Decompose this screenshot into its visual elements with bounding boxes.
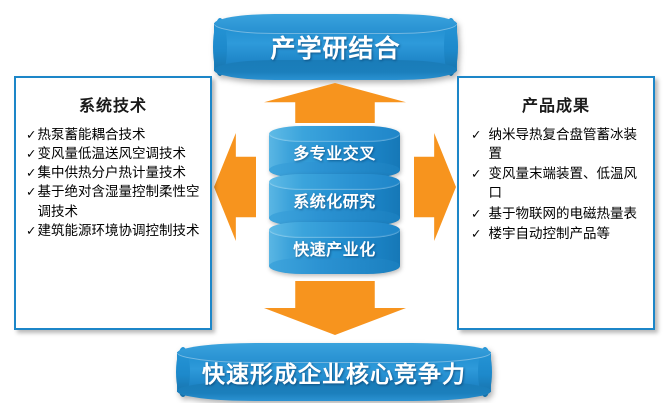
list-item: ✓ 纳米导热复合盘管蓄冰装置: [471, 126, 647, 164]
check-icon: ✓: [26, 164, 36, 183]
top-banner-label: 产学研结合: [214, 14, 457, 80]
list-item: ✓ 基于物联网的电磁热量表: [471, 205, 647, 224]
list-item-label: 基于绝对含湿量控制柔性空调技术: [37, 183, 202, 221]
list-item: ✓ 变风量低温送风空调技术: [26, 145, 202, 164]
list-item-label: 楼宇自动控制产品等: [488, 225, 647, 244]
check-icon: ✓: [26, 145, 36, 164]
stack-2-label: 系统化研究: [269, 174, 400, 226]
list-item: ✓ 建筑能源环境协调控制技术: [26, 222, 202, 241]
right-panel: 产品成果 ✓ 纳米导热复合盘管蓄冰装置 ✓ 变风量末端装置、低温风口 ✓ 基于物…: [457, 76, 655, 330]
bottom-banner: 快速形成企业核心竞争力: [177, 343, 491, 401]
left-panel-list: ✓ 热泵蓄能耦合技术 ✓ 变风量低温送风空调技术 ✓ 集中供热分户热计量技术 ✓…: [16, 126, 210, 241]
check-icon: ✓: [26, 183, 36, 202]
list-item-label: 纳米导热复合盘管蓄冰装置: [488, 126, 647, 164]
check-icon: ✓: [471, 225, 481, 244]
list-item-label: 基于物联网的电磁热量表: [488, 205, 647, 224]
stack-1-label: 多专业交叉: [269, 126, 400, 178]
diagram-canvas: 产学研结合 多专业交叉 系统化研究 快速产业化 系统技术 ✓ 热泵蓄能耦合技术: [0, 0, 669, 403]
arrow-right-icon: [414, 133, 456, 241]
center-stack-item-3: 快速产业化: [269, 222, 400, 274]
check-icon: ✓: [471, 205, 481, 224]
list-item-label: 变风量低温送风空调技术: [37, 145, 202, 164]
center-stack-item-2: 系统化研究: [269, 174, 400, 226]
list-item-label: 变风量末端装置、低温风口: [488, 165, 647, 203]
list-item: ✓ 集中供热分户热计量技术: [26, 164, 202, 183]
left-panel: 系统技术 ✓ 热泵蓄能耦合技术 ✓ 变风量低温送风空调技术 ✓ 集中供热分户热计…: [14, 76, 212, 330]
list-item: ✓ 楼宇自动控制产品等: [471, 225, 647, 244]
list-item: ✓ 变风量末端装置、低温风口: [471, 165, 647, 203]
list-item-label: 集中供热分户热计量技术: [37, 164, 202, 183]
list-item-label: 热泵蓄能耦合技术: [37, 126, 202, 145]
check-icon: ✓: [471, 126, 481, 145]
arrow-down-icon: [264, 281, 406, 335]
stack-3-label: 快速产业化: [269, 222, 400, 274]
left-panel-title: 系统技术: [16, 92, 210, 116]
list-item-label: 建筑能源环境协调控制技术: [37, 222, 202, 241]
center-stack-item-1: 多专业交叉: [269, 126, 400, 178]
check-icon: ✓: [471, 165, 481, 184]
right-panel-title: 产品成果: [459, 92, 653, 116]
check-icon: ✓: [26, 222, 36, 241]
arrow-left-icon: [214, 133, 256, 241]
bottom-banner-label: 快速形成企业核心竞争力: [177, 343, 491, 401]
arrow-up-icon: [264, 83, 406, 123]
check-icon: ✓: [26, 126, 36, 145]
top-banner: 产学研结合: [214, 14, 457, 80]
list-item: ✓ 基于绝对含湿量控制柔性空调技术: [26, 183, 202, 221]
right-panel-list: ✓ 纳米导热复合盘管蓄冰装置 ✓ 变风量末端装置、低温风口 ✓ 基于物联网的电磁…: [459, 126, 653, 244]
list-item: ✓ 热泵蓄能耦合技术: [26, 126, 202, 145]
